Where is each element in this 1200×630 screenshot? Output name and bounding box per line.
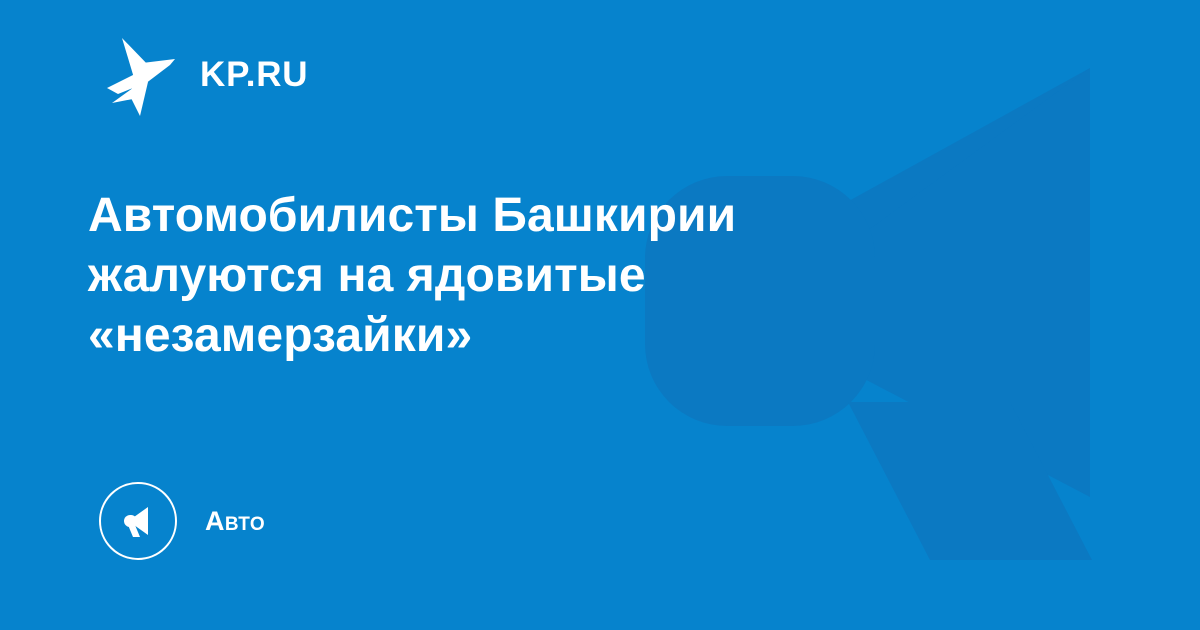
page-title: Автомобилисты Башкирии жалуются на ядови… xyxy=(88,186,928,366)
brand-name: KP.RU xyxy=(200,57,308,92)
megaphone-icon xyxy=(99,482,177,560)
social-share-card: KP.RU Автомобилисты Башкирии жалуются на… xyxy=(0,0,1200,630)
brand-logo[interactable]: KP.RU xyxy=(104,32,308,116)
category-label: Авто xyxy=(205,508,265,535)
category-tag[interactable]: Авто xyxy=(99,482,265,560)
swallow-bird-icon xyxy=(104,32,178,116)
